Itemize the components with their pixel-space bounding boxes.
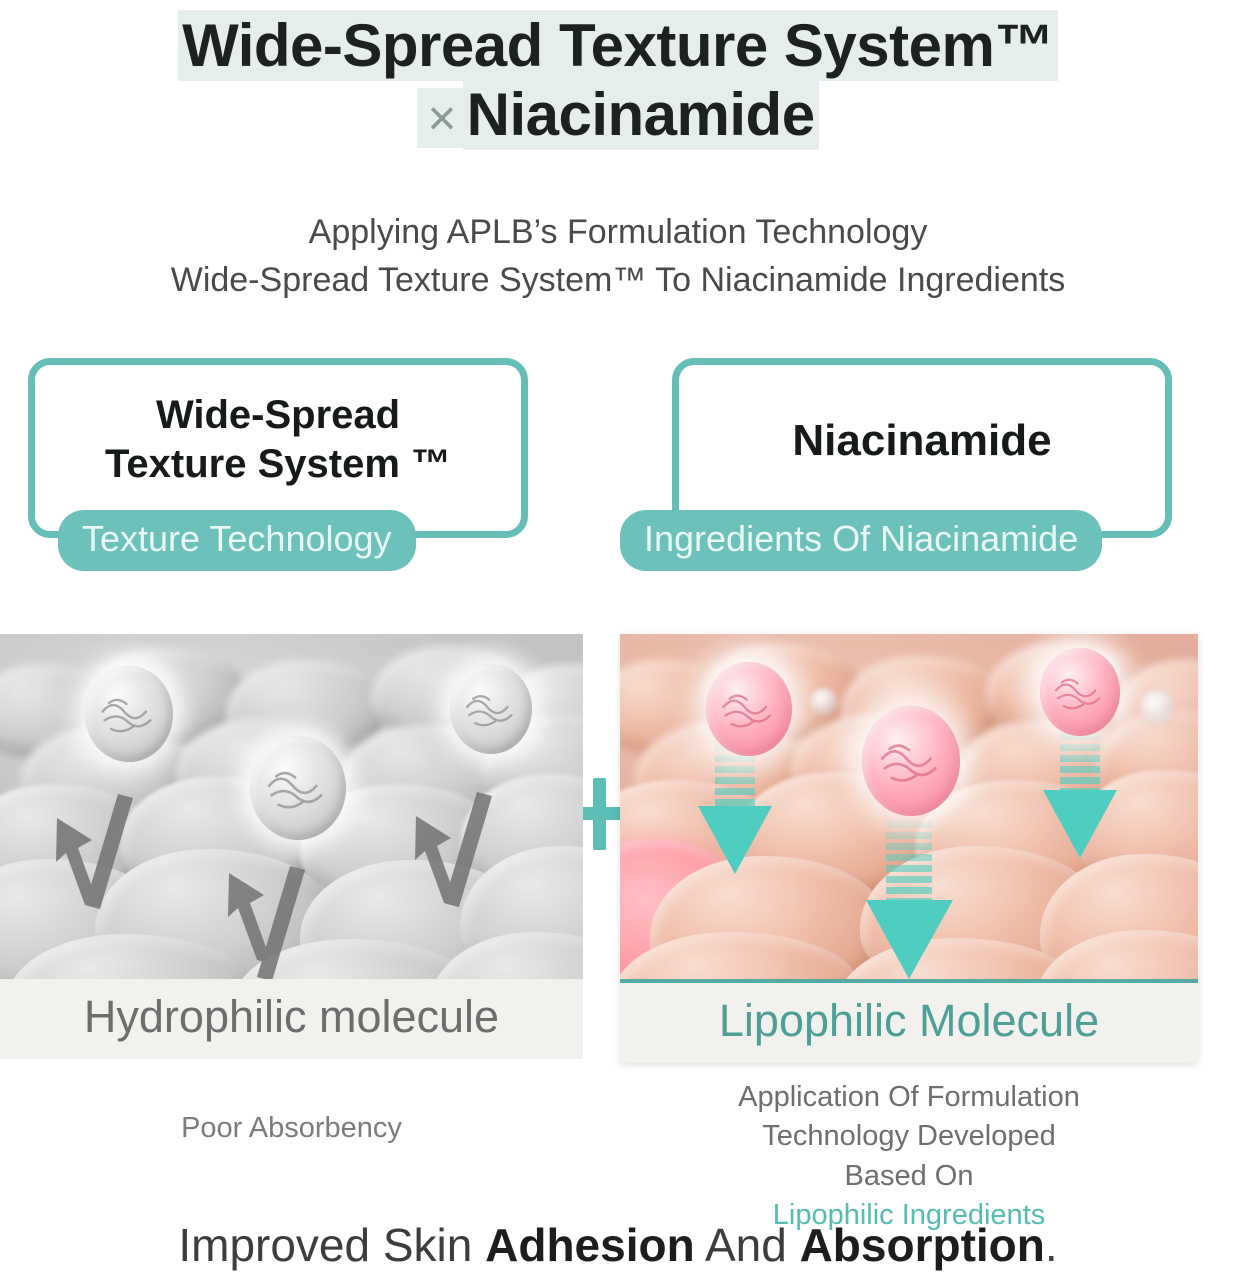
footnote-formulation-technology: Application Of Formulation Technology De… bbox=[620, 1078, 1198, 1236]
badge-texture-system-title: Wide-Spread Texture System ™ bbox=[95, 391, 461, 505]
molecule-squiggle-icon bbox=[875, 728, 948, 794]
footnote-line-2: Technology Developed bbox=[620, 1117, 1198, 1156]
bottom-prefix: Improved Skin bbox=[178, 1219, 485, 1271]
molecule-sphere bbox=[1040, 648, 1120, 736]
title-text-secondary: Niacinamide bbox=[463, 79, 819, 150]
title-line-1: Wide-Spread Texture System™ bbox=[0, 14, 1236, 79]
molecule-squiggle-icon bbox=[717, 681, 781, 737]
molecule-sphere bbox=[85, 666, 173, 762]
caption-lipophilic: Lipophilic Molecule bbox=[620, 979, 1198, 1063]
illustration-lipophilic bbox=[620, 634, 1198, 979]
molecule-sphere bbox=[450, 664, 532, 754]
subtitle-line-1: Applying APLB’s Formulation Technology bbox=[0, 208, 1236, 256]
multiplication-icon: × bbox=[417, 88, 462, 148]
badge-row: Wide-Spread Texture System ™ Texture Tec… bbox=[0, 358, 1236, 598]
illustration-hydrophilic bbox=[0, 634, 583, 979]
bottom-bold-adhesion: Adhesion bbox=[485, 1219, 695, 1271]
page-title: Wide-Spread Texture System™ ×Niacinamide bbox=[0, 14, 1236, 148]
subtitle: Applying APLB’s Formulation Technology W… bbox=[0, 208, 1236, 305]
footnote-line-3-prefix: Based On bbox=[620, 1157, 1198, 1196]
molecule-squiggle-icon bbox=[262, 757, 333, 819]
footnote-poor-absorbency: Poor Absorbency bbox=[0, 1112, 583, 1145]
caption-hydrophilic: Hydrophilic molecule bbox=[0, 979, 583, 1059]
bottom-bold-absorption: Absorption bbox=[800, 1219, 1045, 1271]
bottom-suffix: . bbox=[1045, 1219, 1058, 1271]
panel-hydrophilic: Hydrophilic molecule bbox=[0, 634, 583, 1059]
pill-texture-technology: Texture Technology bbox=[58, 510, 416, 571]
molecule-squiggle-icon bbox=[1050, 666, 1109, 719]
panel-lipophilic: Lipophilic Molecule bbox=[620, 634, 1198, 1063]
bottom-headline: Improved Skin Adhesion And Absorption. bbox=[0, 1218, 1236, 1272]
pill-ingredients-of-niacinamide: Ingredients Of Niacinamide bbox=[620, 510, 1102, 571]
title-text-primary: Wide-Spread Texture System™ bbox=[178, 10, 1058, 81]
title-line-2: ×Niacinamide bbox=[0, 83, 1236, 148]
subtitle-line-2: Wide-Spread Texture System™ To Niacinami… bbox=[0, 256, 1236, 304]
bottom-middle: And bbox=[695, 1219, 800, 1271]
molecule-squiggle-icon bbox=[461, 682, 522, 736]
molecule-squiggle-icon bbox=[96, 685, 161, 743]
footnote-line-1: Application Of Formulation bbox=[620, 1078, 1198, 1117]
molecule-sphere bbox=[862, 706, 960, 816]
badge-niacinamide-title: Niacinamide bbox=[782, 414, 1061, 482]
molecule-sphere bbox=[706, 662, 792, 756]
molecule-sphere bbox=[250, 736, 346, 840]
